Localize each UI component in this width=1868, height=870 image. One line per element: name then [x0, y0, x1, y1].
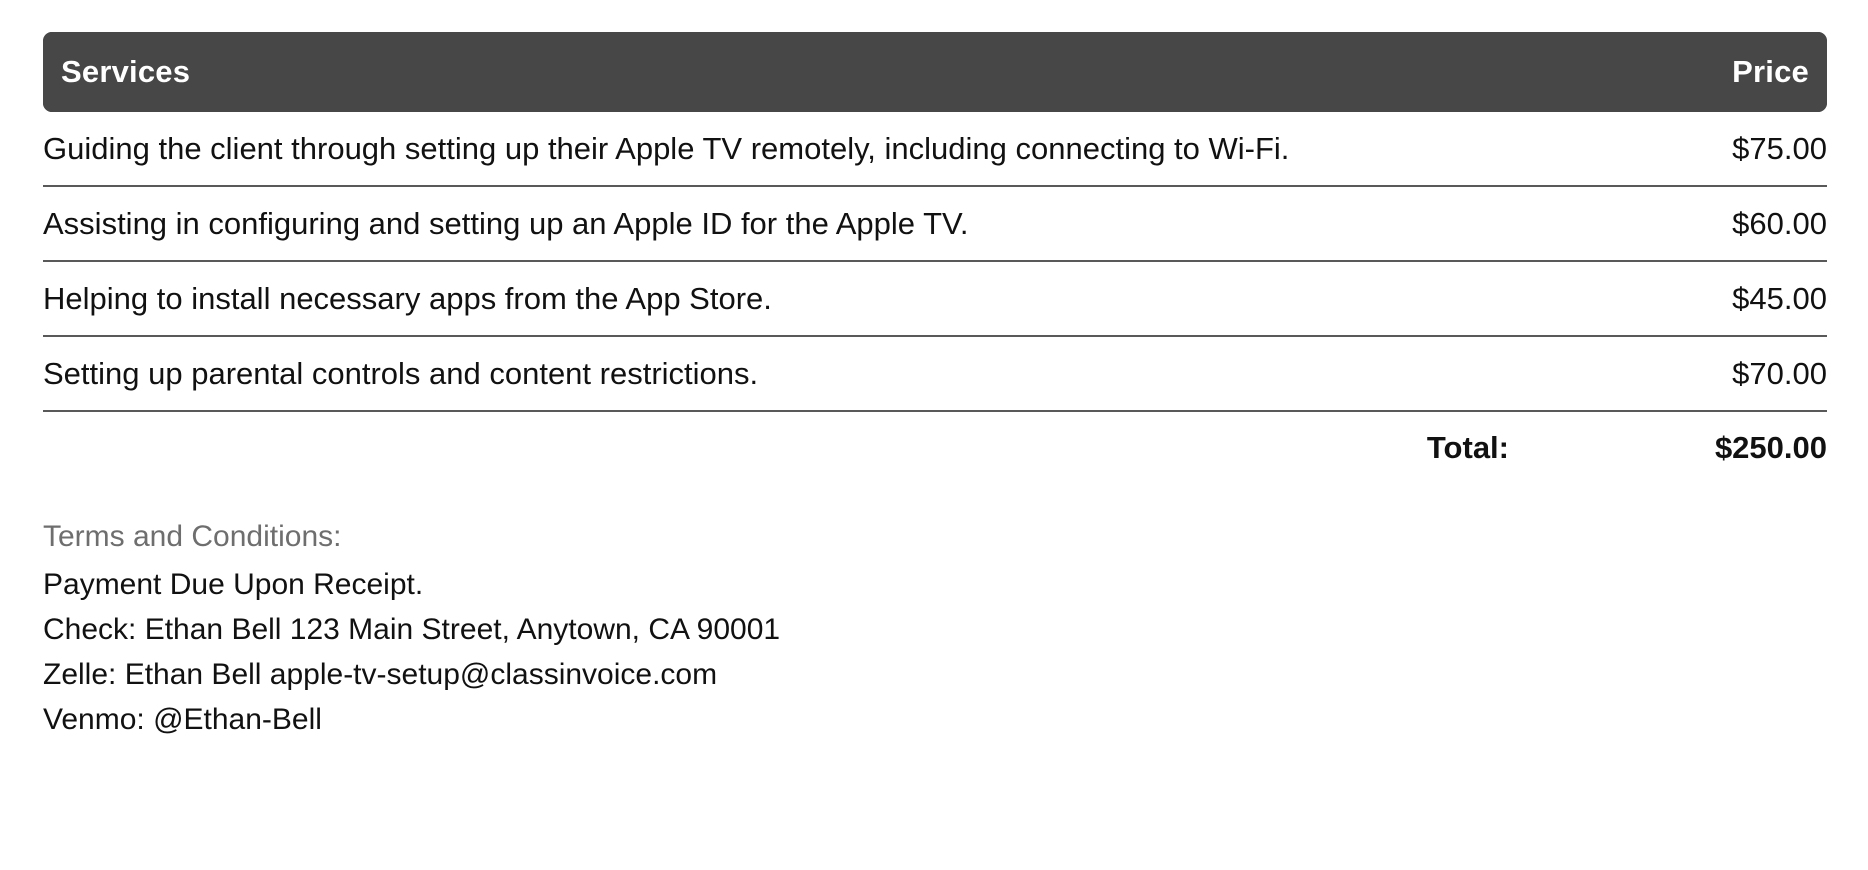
column-header-price: Price	[1509, 32, 1827, 112]
table-header: Services Price	[43, 32, 1827, 112]
table-row: Guiding the client through setting up th…	[43, 112, 1827, 186]
service-price: $60.00	[1509, 186, 1827, 261]
terms-line-payment: Payment Due Upon Receipt.	[43, 562, 1827, 607]
terms-line-zelle: Zelle: Ethan Bell apple-tv-setup@classin…	[43, 652, 1827, 697]
terms-line-venmo: Venmo: @Ethan-Bell	[43, 697, 1827, 742]
terms-title: Terms and Conditions:	[43, 514, 1827, 560]
table-row: Helping to install necessary apps from t…	[43, 261, 1827, 336]
table-total-row: Total: $250.00	[43, 411, 1827, 484]
service-price: $75.00	[1509, 112, 1827, 186]
terms-and-conditions-section: Terms and Conditions: Payment Due Upon R…	[43, 514, 1827, 742]
table-body: Guiding the client through setting up th…	[43, 112, 1827, 484]
service-description: Setting up parental controls and content…	[43, 336, 1509, 411]
service-description: Helping to install necessary apps from t…	[43, 261, 1509, 336]
service-price: $70.00	[1509, 336, 1827, 411]
service-description: Assisting in configuring and setting up …	[43, 186, 1509, 261]
service-description: Guiding the client through setting up th…	[43, 112, 1509, 186]
table-row: Setting up parental controls and content…	[43, 336, 1827, 411]
invoice-services-page: Services Price Guiding the client throug…	[0, 0, 1868, 870]
total-value: $250.00	[1509, 411, 1827, 484]
total-label: Total:	[43, 411, 1509, 484]
table-row: Assisting in configuring and setting up …	[43, 186, 1827, 261]
column-header-services: Services	[43, 32, 1509, 112]
service-price: $45.00	[1509, 261, 1827, 336]
services-price-table: Services Price Guiding the client throug…	[43, 32, 1827, 484]
terms-line-check: Check: Ethan Bell 123 Main Street, Anyto…	[43, 607, 1827, 652]
table-header-row: Services Price	[43, 32, 1827, 112]
